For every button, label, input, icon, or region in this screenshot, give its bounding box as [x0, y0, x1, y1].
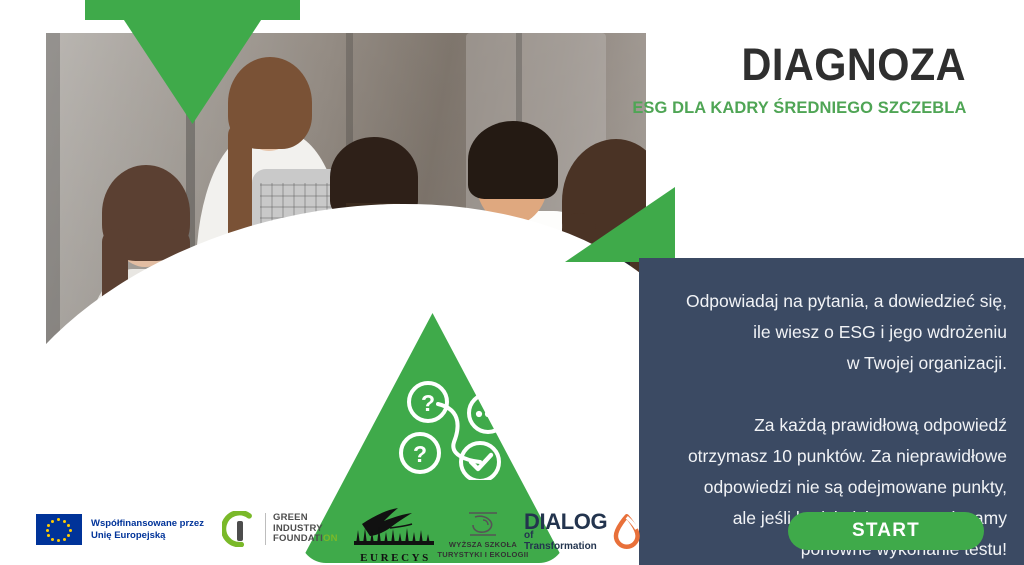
- info-line-1: Odpowiadaj na pytania, a dowiedzieć się,: [657, 286, 1007, 317]
- green-industry-foundation-logo: GREEN INDUSTRY FOUNDATION: [222, 511, 338, 547]
- eu-flag-icon: [36, 514, 82, 545]
- page-title: DIAGNOZA: [742, 42, 966, 87]
- quiz-icon-cluster: ? ?: [398, 380, 558, 480]
- info-line-2: ile wiesz o ESG i jego wdrożeniu: [657, 317, 1007, 348]
- page-subtitle: ESG DLA KADRY ŚREDNIEGO SZCZEBLA: [632, 99, 966, 116]
- info-line-6: odpowiedzi nie są odejmowane punkty,: [657, 472, 1007, 503]
- european-union-cofunding-logo: Współfinansowane przez Unię Europejską: [36, 514, 204, 545]
- svg-text:?: ?: [421, 390, 435, 416]
- dialog-line-1: DIALOG: [524, 512, 608, 532]
- wste-line-1: WYŻSZA SZKOŁA: [428, 540, 538, 550]
- ellipsis-circle-icon: [469, 394, 507, 432]
- info-line-5: otrzymasz 10 punktów. Za nieprawidłowe: [657, 441, 1007, 472]
- eu-logo-text: Współfinansowane przez Unię Europejską: [91, 518, 204, 542]
- wste-line-2: TURYSTYKI I EKOLOGII: [428, 550, 538, 560]
- wyzsza-szkola-turystyki-i-ekologii-logo: WYŻSZA SZKOŁA TURYSTYKI I EKOLOGII: [428, 508, 538, 560]
- question-mark-circle-icon-2: ?: [401, 434, 439, 472]
- start-button[interactable]: START: [788, 512, 984, 550]
- wste-emblem-icon: [461, 508, 505, 540]
- green-industry-foundation-text: GREEN INDUSTRY FOUNDATION: [265, 513, 338, 545]
- green-industry-foundation-mark-icon: [222, 511, 258, 547]
- gif-line-3a: FOUNDATI: [273, 533, 323, 544]
- dialog-drop-icon: [612, 514, 642, 550]
- question-mark-circle-icon: ?: [409, 383, 447, 421]
- eu-logo-line-1: Współfinansowane przez: [91, 518, 204, 530]
- svg-text:?: ?: [413, 441, 427, 467]
- info-line-4: Za każdą prawidłową odpowiedź: [657, 410, 1007, 441]
- footer-logos: Współfinansowane przez Unię Europejską G…: [0, 498, 639, 565]
- decorative-triangle-top-cap: [85, 0, 300, 20]
- info-paragraph-gap: [657, 379, 1007, 410]
- slide-root: ? ? DIAGNOZA ESG DLA KADRY ŚREDNIEGO SZC…: [0, 0, 1024, 565]
- gif-line-3: FOUNDATION: [273, 534, 338, 545]
- dialog-wordmark: DIALOG of Transformation: [524, 512, 608, 552]
- info-line-3: w Twojej organizacji.: [657, 348, 1007, 379]
- gif-line-3b: ON: [323, 533, 338, 544]
- eu-logo-line-2: Unię Europejską: [91, 530, 204, 542]
- dialog-of-transformation-logo: DIALOG of Transformation: [524, 512, 641, 552]
